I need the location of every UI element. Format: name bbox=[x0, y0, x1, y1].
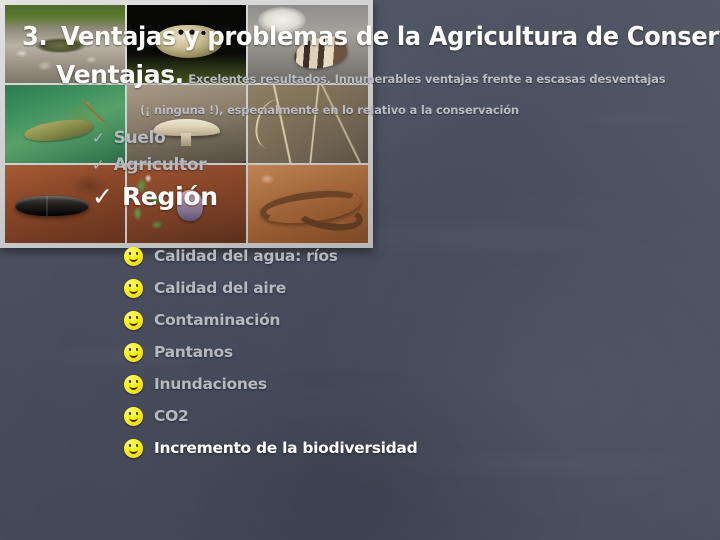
smiley-face-icon bbox=[124, 311, 143, 330]
smiley-list: Calidad del agua: ríos Calidad del aire … bbox=[124, 240, 544, 464]
check-list-item-suelo[interactable]: ✓ Suelo bbox=[92, 128, 352, 155]
smiley-list-item-label: Calidad del agua: ríos bbox=[154, 247, 338, 265]
subheading-body-line-1: Excelentes resultados. Innumerables vent… bbox=[188, 72, 665, 86]
smiley-list-item-label: CO2 bbox=[154, 407, 188, 425]
check-icon: ✓ bbox=[92, 184, 113, 209]
smiley-list-item-label: Incremento de la biodiversidad bbox=[154, 439, 417, 457]
check-list-item-label: Región bbox=[122, 182, 218, 211]
slide-canvas: 3. Ventajas y problemas de la Agricultur… bbox=[0, 0, 720, 540]
slide-subheading: Ventajas. Excelentes resultados. Innumer… bbox=[56, 60, 716, 89]
smiley-face-icon bbox=[124, 375, 143, 394]
check-list-item-label: Agricultor bbox=[114, 155, 207, 175]
smiley-list-item-calidad-del-agua[interactable]: Calidad del agua: ríos bbox=[124, 240, 544, 272]
check-list: ✓ Suelo ✓ Agricultor ✓ Región bbox=[92, 128, 352, 222]
smiley-list-item-calidad-del-aire[interactable]: Calidad del aire bbox=[124, 272, 544, 304]
slide-heading: 3. Ventajas y problemas de la Agricultur… bbox=[22, 22, 702, 52]
smiley-list-item-label: Pantanos bbox=[154, 343, 233, 361]
check-list-item-label: Suelo bbox=[114, 128, 166, 148]
heading-number: 3. bbox=[22, 22, 47, 52]
subheading-title: Ventajas. bbox=[56, 60, 184, 89]
smiley-face-icon bbox=[124, 439, 143, 458]
smiley-list-item-label: Inundaciones bbox=[154, 375, 267, 393]
smiley-face-icon bbox=[124, 279, 143, 298]
check-icon: ✓ bbox=[92, 131, 105, 146]
smiley-face-icon bbox=[124, 407, 143, 426]
smiley-list-item-incremento-biodiversidad[interactable]: Incremento de la biodiversidad bbox=[124, 432, 544, 464]
check-list-item-agricultor[interactable]: ✓ Agricultor bbox=[92, 155, 352, 182]
check-list-item-region[interactable]: ✓ Región bbox=[92, 182, 352, 222]
subheading-body-line-2: (¡ ninguna !), especialmente en lo relat… bbox=[140, 101, 700, 119]
smiley-face-icon bbox=[124, 247, 143, 266]
check-icon: ✓ bbox=[92, 158, 105, 173]
smiley-list-item-pantanos[interactable]: Pantanos bbox=[124, 336, 544, 368]
smiley-list-item-label: Contaminación bbox=[154, 311, 280, 329]
smiley-list-item-co2[interactable]: CO2 bbox=[124, 400, 544, 432]
smiley-list-item-contaminacion[interactable]: Contaminación bbox=[124, 304, 544, 336]
smiley-face-icon bbox=[124, 343, 143, 362]
page-title: Ventajas y problemas de la Agricultura d… bbox=[61, 22, 720, 52]
smiley-list-item-label: Calidad del aire bbox=[154, 279, 286, 297]
smiley-list-item-inundaciones[interactable]: Inundaciones bbox=[124, 368, 544, 400]
